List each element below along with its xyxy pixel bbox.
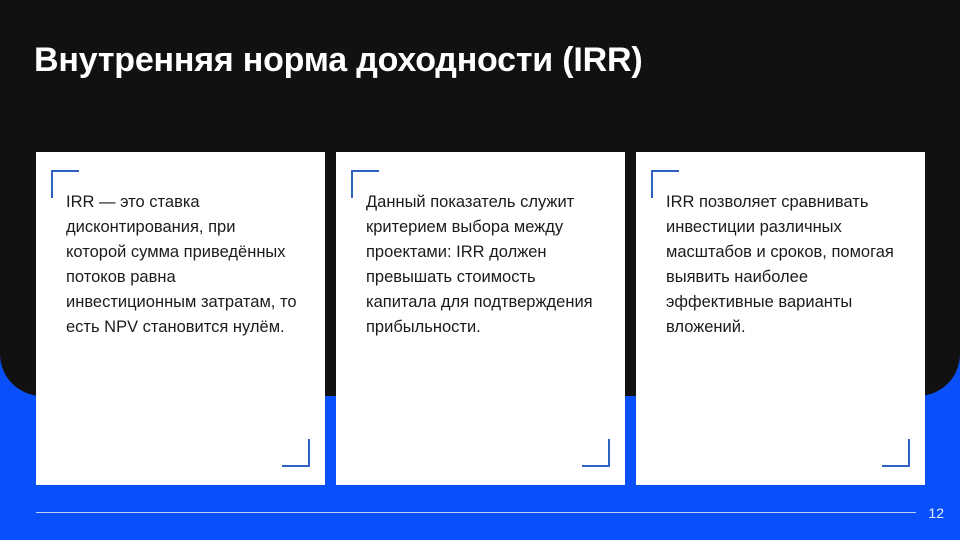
corner-bracket-bottom-right-icon	[282, 439, 310, 467]
card-body-text: IRR позволяет сравнивать инвестиции разл…	[666, 190, 898, 340]
content-card: IRR позволяет сравнивать инвестиции разл…	[636, 152, 925, 485]
content-card: Данный показатель служит критерием выбор…	[336, 152, 625, 485]
card-body-text: Данный показатель служит критерием выбор…	[366, 190, 598, 340]
footer-divider	[36, 512, 916, 513]
card-body-text: IRR — это ставка дисконтирования, при ко…	[66, 190, 298, 340]
page-number: 12	[914, 504, 944, 522]
slide-canvas: Внутренняя норма доходности (IRR) IRR — …	[0, 0, 960, 540]
corner-bracket-bottom-right-icon	[582, 439, 610, 467]
page-title: Внутренняя норма доходности (IRR)	[34, 39, 914, 81]
corner-bracket-bottom-right-icon	[882, 439, 910, 467]
content-card: IRR — это ставка дисконтирования, при ко…	[36, 152, 325, 485]
